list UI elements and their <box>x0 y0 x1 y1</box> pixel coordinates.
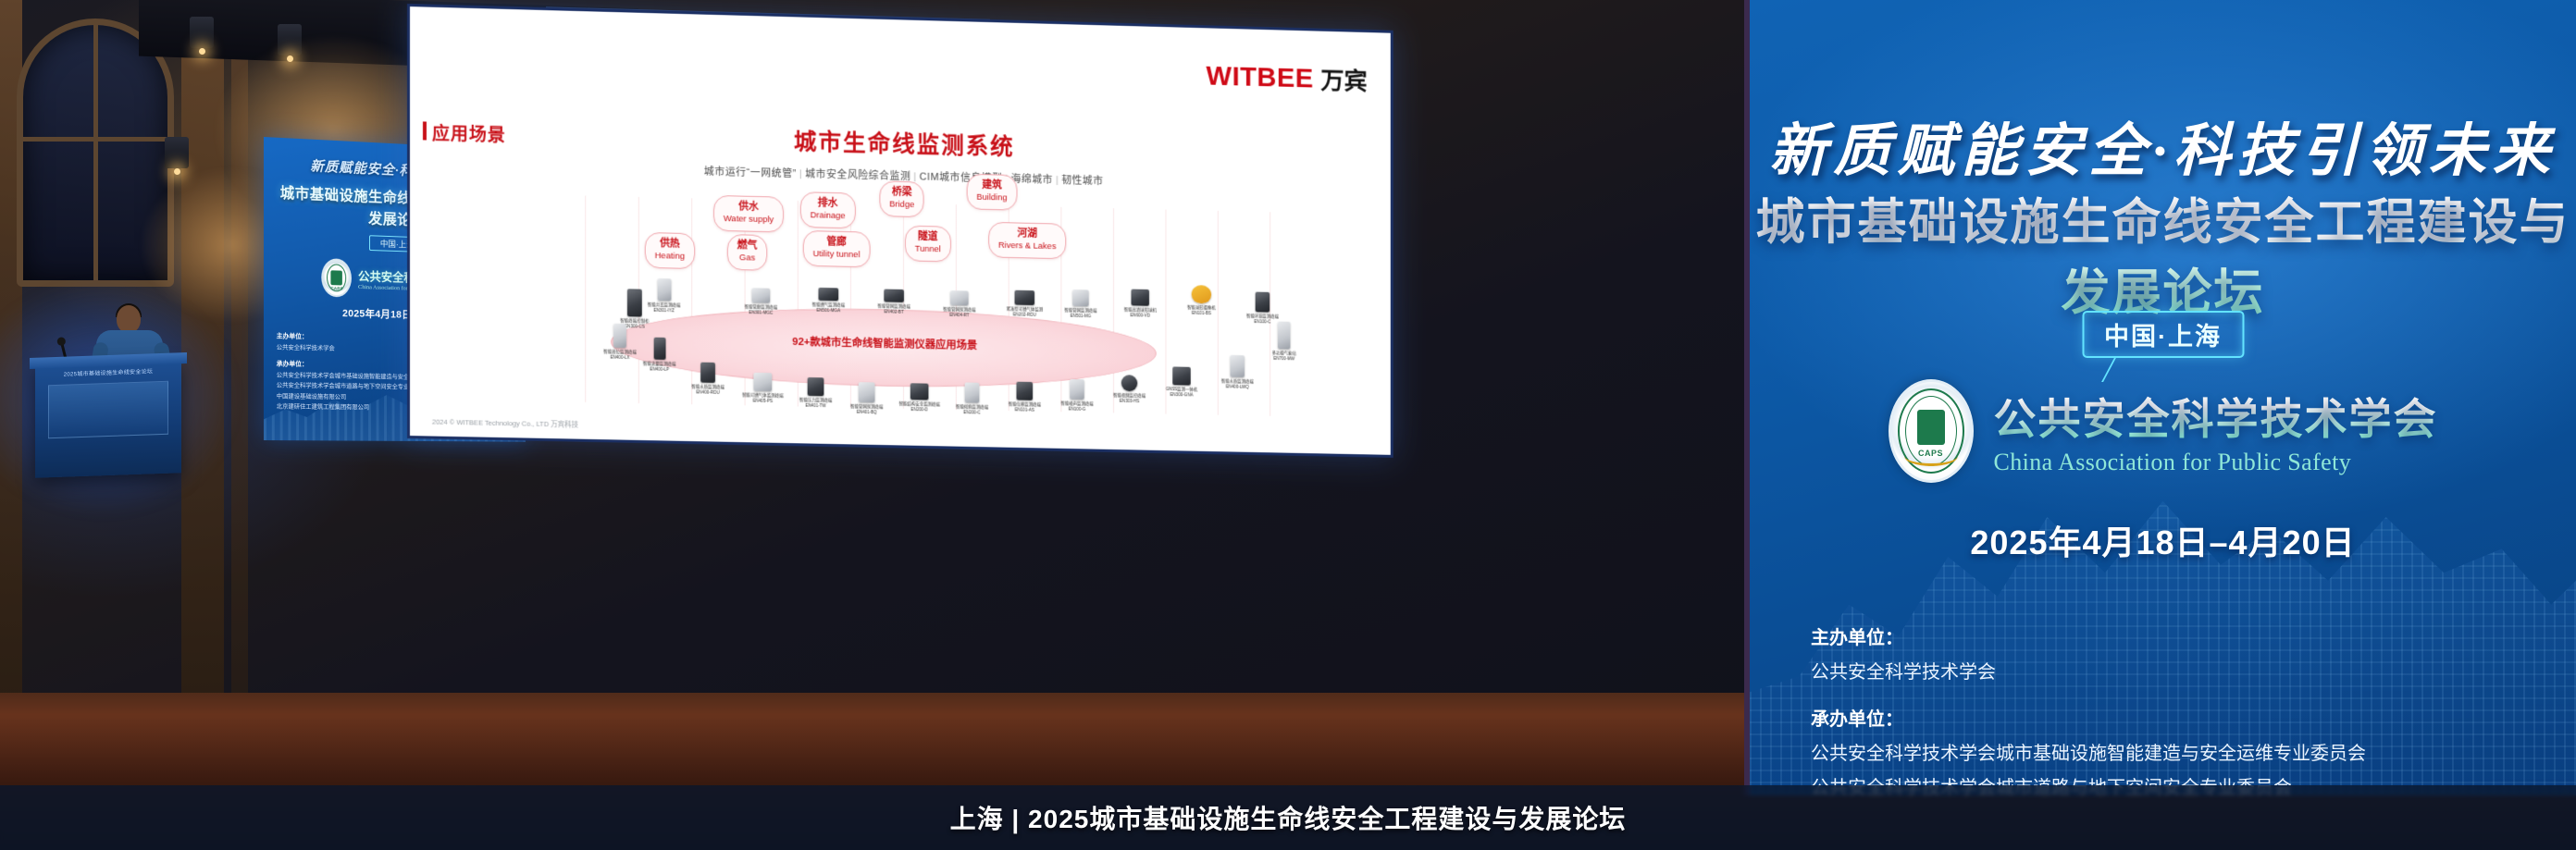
device-model: EN200-C <box>947 410 997 415</box>
seal-abbr-text: CAPS <box>1891 449 1971 458</box>
bubble-en: Gas <box>737 253 758 264</box>
slide-subtitle-item: 海绵城市 <box>1011 174 1053 186</box>
device-icon <box>751 288 770 302</box>
scene-bubble-building: 建筑 Building <box>967 174 1018 211</box>
caps-seal-icon: CAPS <box>322 258 353 298</box>
podium-front-panel <box>48 381 168 439</box>
scene-bubble-rivers-lakes: 河湖 Rivers & Lakes <box>988 222 1066 259</box>
scene-bubble-heating: 供热 Heating <box>645 232 695 269</box>
device-item: 智能高清球形球机 EN600-VD <box>1115 289 1166 318</box>
device-item: 智能结构安全监测终端 EN200-D <box>894 383 945 413</box>
device-icon <box>1278 322 1291 350</box>
banner-organizer-label: 承办单位： <box>1811 703 2548 737</box>
bubble-cn: 隧道 <box>915 231 941 244</box>
seal-core-glyph <box>1917 410 1945 445</box>
device-model: EN401-TW <box>790 403 841 409</box>
device-item: 智能管廊监测终端 EN301-MGC <box>736 288 786 315</box>
device-item: 智能管网探测终端 EN404-RT <box>934 290 985 318</box>
banner-host-name: 公共安全科学技术学会 <box>1811 656 2548 690</box>
device-item: 智能流量监测终端 EN400-LP <box>634 337 685 372</box>
witbee-logo-en: WITBEE <box>1207 60 1314 94</box>
device-model: EN100-G <box>1052 406 1103 412</box>
device-icon <box>1016 382 1033 400</box>
device-icon <box>1256 292 1270 313</box>
bottom-caption-bar: 上海 | 2025城市基础设施生命线安全工程建设与发展论坛 <box>0 785 2576 850</box>
scene-bubble-utility-tunnel: 管廊 Utility tunnel <box>803 230 871 267</box>
banner-association-logo: CAPS 公共安全科学技术学会 China Association for Pu… <box>1750 379 2576 483</box>
device-model: EN300-GNA <box>1157 392 1207 398</box>
device-item: 智能位移监测终端 EN101-AS <box>999 381 1050 413</box>
spacer <box>1811 690 2548 703</box>
device-item: 智能管网探测终端 EN401-BQ <box>841 382 892 415</box>
device-item: GNSS监测一体机 EN300-GNA <box>1157 366 1207 398</box>
bubble-cn: 桥梁 <box>889 187 914 200</box>
device-icon <box>950 290 969 305</box>
device-model: EN200-D <box>894 407 945 413</box>
device-icon <box>1230 355 1245 377</box>
device-item: 智能环境监测终端 EN100-C <box>1237 291 1287 325</box>
device-model: EN600-VD <box>1115 313 1166 318</box>
caps-seal-icon: CAPS <box>1889 379 1974 483</box>
device-item: 智能管网监测终端 EN501-MG <box>1056 289 1107 319</box>
device-item: 智能水质监测终端 EN400-RDU <box>682 362 733 395</box>
device-model: EN501-MG <box>1056 314 1107 319</box>
device-icon <box>1121 375 1138 391</box>
main-presentation-screen: WITBEE 万宾 应用场景 城市生命线监测系统 城市运行“一网统管”|城市安全… <box>407 4 1393 458</box>
banner-date: 2025年4月18日–4月20日 <box>1750 516 2576 564</box>
banner-organizer-item: 公共安全科学技术学会城市基础设施智能建造与安全运维专业委员会 <box>1811 737 2548 771</box>
device-icon <box>884 289 904 302</box>
banner-city-badge: 中国·上海 <box>2082 311 2244 358</box>
seal-core <box>331 270 342 285</box>
banner-association-text: 公共安全科学技术学会 China Association for Public … <box>1994 386 2438 476</box>
device-icon <box>808 377 824 396</box>
device-icon <box>1072 289 1089 306</box>
device-item: 智能可燃气体监测终端 EN405-PS <box>737 372 788 403</box>
device-item: 智能水质监测终端 EN400-LWQ <box>1212 355 1262 390</box>
device-model: EN401-BQ <box>841 410 892 415</box>
podium: 2025城市基础设施生命线安全论坛 <box>35 360 181 478</box>
device-item: 智能燃气监测终端 EN501-MGA <box>803 288 854 314</box>
slide-copyright: 2024 © WITBEE Technology Co., LTD 万宾科技 <box>432 417 578 430</box>
device-icon <box>910 383 929 400</box>
device-item: 多功能气象站 EN700-MW <box>1259 321 1309 362</box>
device-icon <box>1192 285 1211 303</box>
device-model: EN101-BS <box>1176 311 1226 316</box>
device-model: EN101-AS <box>999 407 1050 413</box>
bubble-cn: 排水 <box>811 197 846 211</box>
device-icon <box>753 373 772 391</box>
banner-main-title: 城市基础设施生命线安全工程建设与发展论坛 <box>1750 183 2576 324</box>
device-icon <box>1070 379 1084 400</box>
device-icon <box>1172 366 1190 385</box>
device-icon <box>700 363 715 383</box>
device-model: EN400-LP <box>634 366 685 372</box>
device-item: 智能视频监控终端 EN303-HS <box>1104 375 1155 404</box>
banner-assoc-cn: 公共安全科学技术学会 <box>1994 386 2438 447</box>
device-model: EN400-RDU <box>682 389 733 395</box>
device-icon <box>613 324 626 348</box>
bubble-cn: 供热 <box>655 238 685 251</box>
device-item: 智能倾角监测终端 EN200-C <box>947 382 997 415</box>
scene-bubble-drainage: 排水 Drainage <box>800 191 856 228</box>
separator: | <box>913 171 916 182</box>
spotlight-icon <box>165 137 189 168</box>
slide-content: WITBEE 万宾 应用场景 城市生命线监测系统 城市运行“一网统管”|城市安全… <box>410 6 1391 455</box>
bubble-en: Water supply <box>724 214 774 226</box>
device-icon <box>1131 289 1148 306</box>
separator: | <box>799 168 802 179</box>
device-icon <box>1015 290 1035 305</box>
banner-organizers-block: 主办单位： 公共安全科学技术学会 承办单位： 公共安全科学技术学会城市基础设施智… <box>1811 622 2548 795</box>
bubble-en: Heating <box>655 251 685 263</box>
bubble-en: Building <box>976 192 1007 204</box>
device-item: 智能球形摄像机 EN101-BS <box>1176 285 1226 316</box>
device-icon <box>965 382 980 402</box>
device-item: 紧凑型可燃气体监测 EN202-RDU <box>999 289 1050 317</box>
bubble-en: Utility tunnel <box>813 249 861 261</box>
device-icon <box>653 338 665 360</box>
device-model: EN100-C <box>1237 319 1287 325</box>
banner-assoc-en: China Association for Public Safety <box>1994 449 2438 476</box>
device-icon <box>657 278 671 301</box>
device-item: 智能噪声监测终端 EN100-G <box>1052 379 1103 413</box>
scene-bubble-gas: 燃气 Gas <box>727 234 767 270</box>
bubble-en: Rivers & Lakes <box>998 240 1056 253</box>
bubble-en: Drainage <box>811 210 846 222</box>
bubble-en: Bridge <box>889 199 914 210</box>
seal-abbr-text: CAPS <box>324 286 351 291</box>
scene-bubble-water-supply: 供水 Water supply <box>713 195 784 232</box>
banner-script-line: 新质赋能安全·科技引领未来 <box>1750 104 2576 187</box>
spotlight-icon <box>190 17 214 48</box>
bubble-cn: 管廊 <box>813 236 861 250</box>
witbee-logo: WITBEE 万宾 <box>1207 59 1368 97</box>
device-model: EN700-MW <box>1259 356 1309 362</box>
right-led-banner: 新质赋能安全·科技引领未来 城市基础设施生命线安全工程建设与发展论坛 中国·上海… <box>1744 0 2576 795</box>
separator: | <box>1056 175 1059 186</box>
device-item: 智能压力监测终端 EN401-TW <box>790 377 841 409</box>
device-model: EN405-PS <box>737 398 788 403</box>
device-item: 智能井盖监测终端 EN301-IYZ <box>638 278 689 314</box>
device-model: EN303-HS <box>1104 399 1155 404</box>
speaker-head <box>117 305 141 333</box>
slide-subtitle-item: 韧性城市 <box>1061 175 1103 187</box>
caption-text: 上海 | 2025城市基础设施生命线安全工程建设与发展论坛 <box>950 799 1627 836</box>
device-model: EN400-LWQ <box>1212 384 1262 389</box>
banner-host-label: 主办单位： <box>1811 622 2548 656</box>
witbee-logo-cn: 万宾 <box>1320 62 1367 97</box>
bubble-cn: 建筑 <box>976 179 1007 192</box>
device-icon <box>818 288 838 301</box>
slide-subtitle-item: 城市运行“一网统管” <box>704 166 797 179</box>
device-item: 智能管网监测终端 EN402-BT <box>869 289 920 314</box>
device-icon <box>859 382 875 402</box>
bubble-cn: 供水 <box>724 201 774 215</box>
scene-bubble-bridge: 桥梁 Bridge <box>879 180 924 216</box>
scene-bubble-tunnel: 隧道 Tunnel <box>905 226 951 262</box>
bubble-cn: 燃气 <box>737 240 758 253</box>
bubble-en: Tunnel <box>915 243 941 254</box>
bubble-cn: 河湖 <box>998 228 1056 241</box>
